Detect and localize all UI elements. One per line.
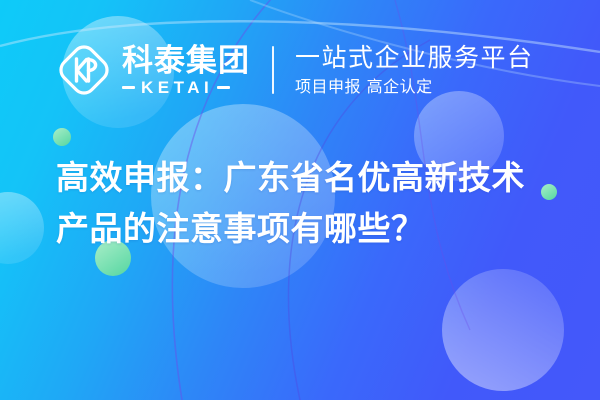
- dash-right-icon: [217, 86, 230, 89]
- tagline-sub: 项目申报 高企认定: [295, 76, 534, 98]
- banner-header: 科泰集团 KETAI 一站式企业服务平台 项目申报 高企认定: [0, 0, 600, 140]
- pale-circle-lower-right: [442, 269, 564, 391]
- company-name-cn: 科泰集团: [122, 44, 250, 78]
- brand-lockup: 科泰集团 KETAI: [55, 35, 250, 105]
- page-title: 高效申报：广东省名优高新技术产品的注意事项有哪些？: [56, 158, 525, 248]
- ketai-diamond-monogram-logo: [55, 41, 113, 99]
- brand-text: 科泰集团 KETAI: [122, 40, 250, 100]
- vertical-divider: [272, 46, 274, 94]
- company-name-en: KETAI: [141, 79, 213, 97]
- pale-circle-edge-left: [0, 192, 44, 264]
- promo-banner: 科泰集团 KETAI 一站式企业服务平台 项目申报 高企认定 高效申报：广东省名…: [0, 0, 600, 400]
- headline-block: 高效申报：广东省名优高新技术产品的注意事项有哪些？: [56, 152, 556, 254]
- tagline-block: 一站式企业服务平台 项目申报 高企认定: [295, 39, 534, 101]
- tagline-main: 一站式企业服务平台: [295, 43, 534, 73]
- company-name-en-row: KETAI: [122, 79, 250, 97]
- dash-left-icon: [122, 86, 135, 89]
